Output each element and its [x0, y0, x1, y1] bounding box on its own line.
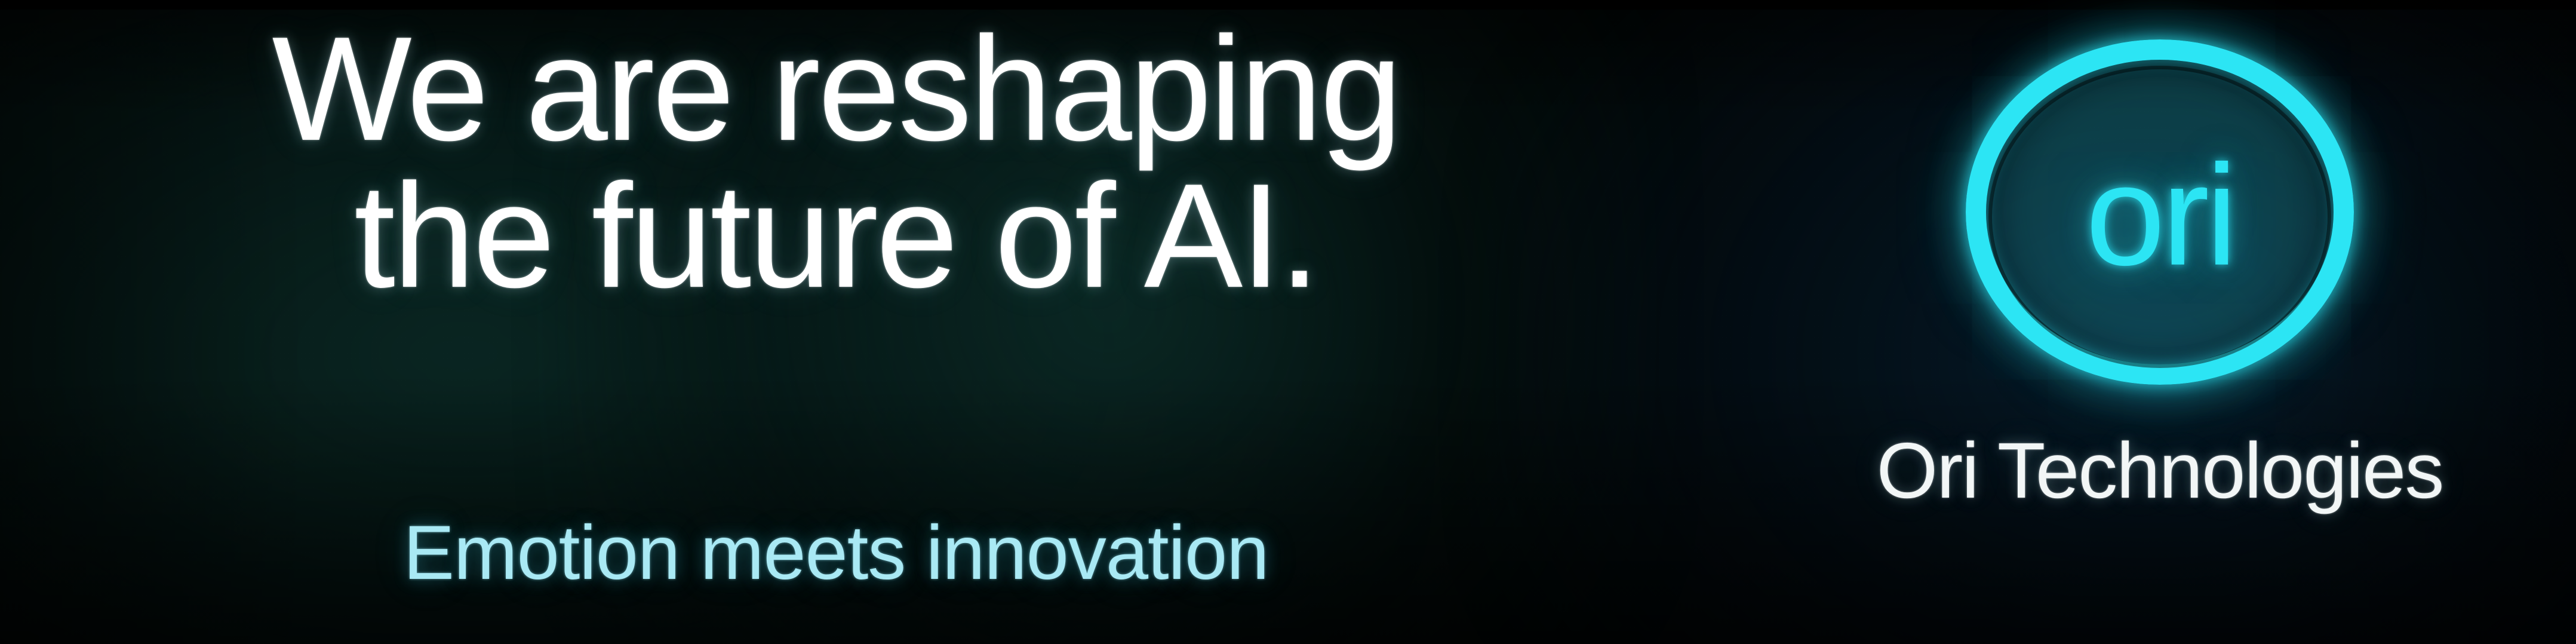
ori-logo: ori — [1966, 39, 2354, 385]
headline-line-1: We are reshaping — [0, 13, 1672, 164]
brand-name: Ori Technologies — [1744, 431, 2576, 510]
headline-line-2: the future of AI. — [0, 160, 1672, 311]
tagline: Emotion meets innovation — [0, 515, 1672, 591]
brand-column: ori Ori Technologies — [1744, 0, 2576, 644]
headline-block: We are reshaping the future of AI. — [0, 0, 1672, 454]
promo-banner: We are reshaping the future of AI. Emoti… — [0, 0, 2576, 644]
logo-wordmark: ori — [1966, 143, 2354, 287]
